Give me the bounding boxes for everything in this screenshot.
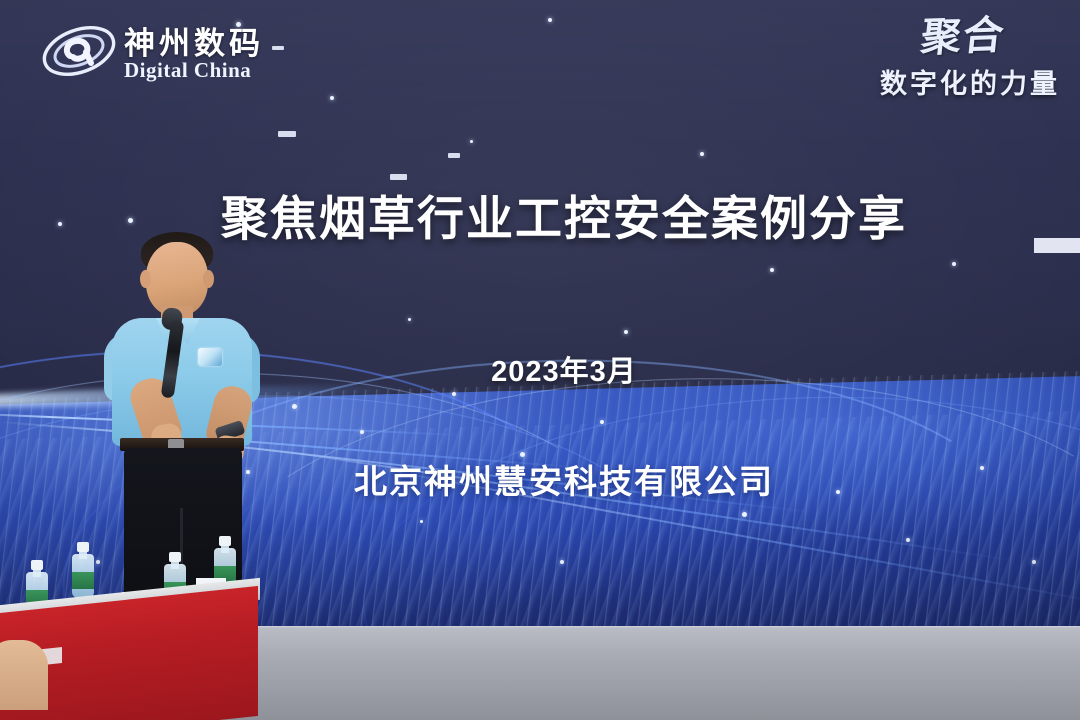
campaign-calligraphy: 聚合: [797, 13, 1062, 62]
brand-logo: 神州数码 Digital China: [40, 20, 290, 88]
seated-attendee: [0, 640, 48, 710]
conference-photo: 神州数码 Digital China 聚合 数字化的力量 聚焦烟草行业工控安全案…: [0, 0, 1080, 720]
digital-china-swirl-icon: [40, 22, 118, 80]
speaker-head: [146, 242, 208, 316]
brand-name-en: Digital China: [124, 58, 251, 83]
company-chest-logo-icon: [198, 348, 222, 366]
campaign-mark: 聚合 数字化的力量: [800, 18, 1060, 118]
campaign-tagline: 数字化的力量: [800, 62, 1060, 101]
speaker: [98, 228, 288, 628]
screen-edge-highlight: [1034, 238, 1080, 253]
speaker-ear-left: [140, 270, 151, 288]
water-bottle: [72, 542, 94, 598]
brand-name-cn: 神州数码: [124, 18, 264, 63]
speaker-ear-right: [203, 270, 214, 288]
